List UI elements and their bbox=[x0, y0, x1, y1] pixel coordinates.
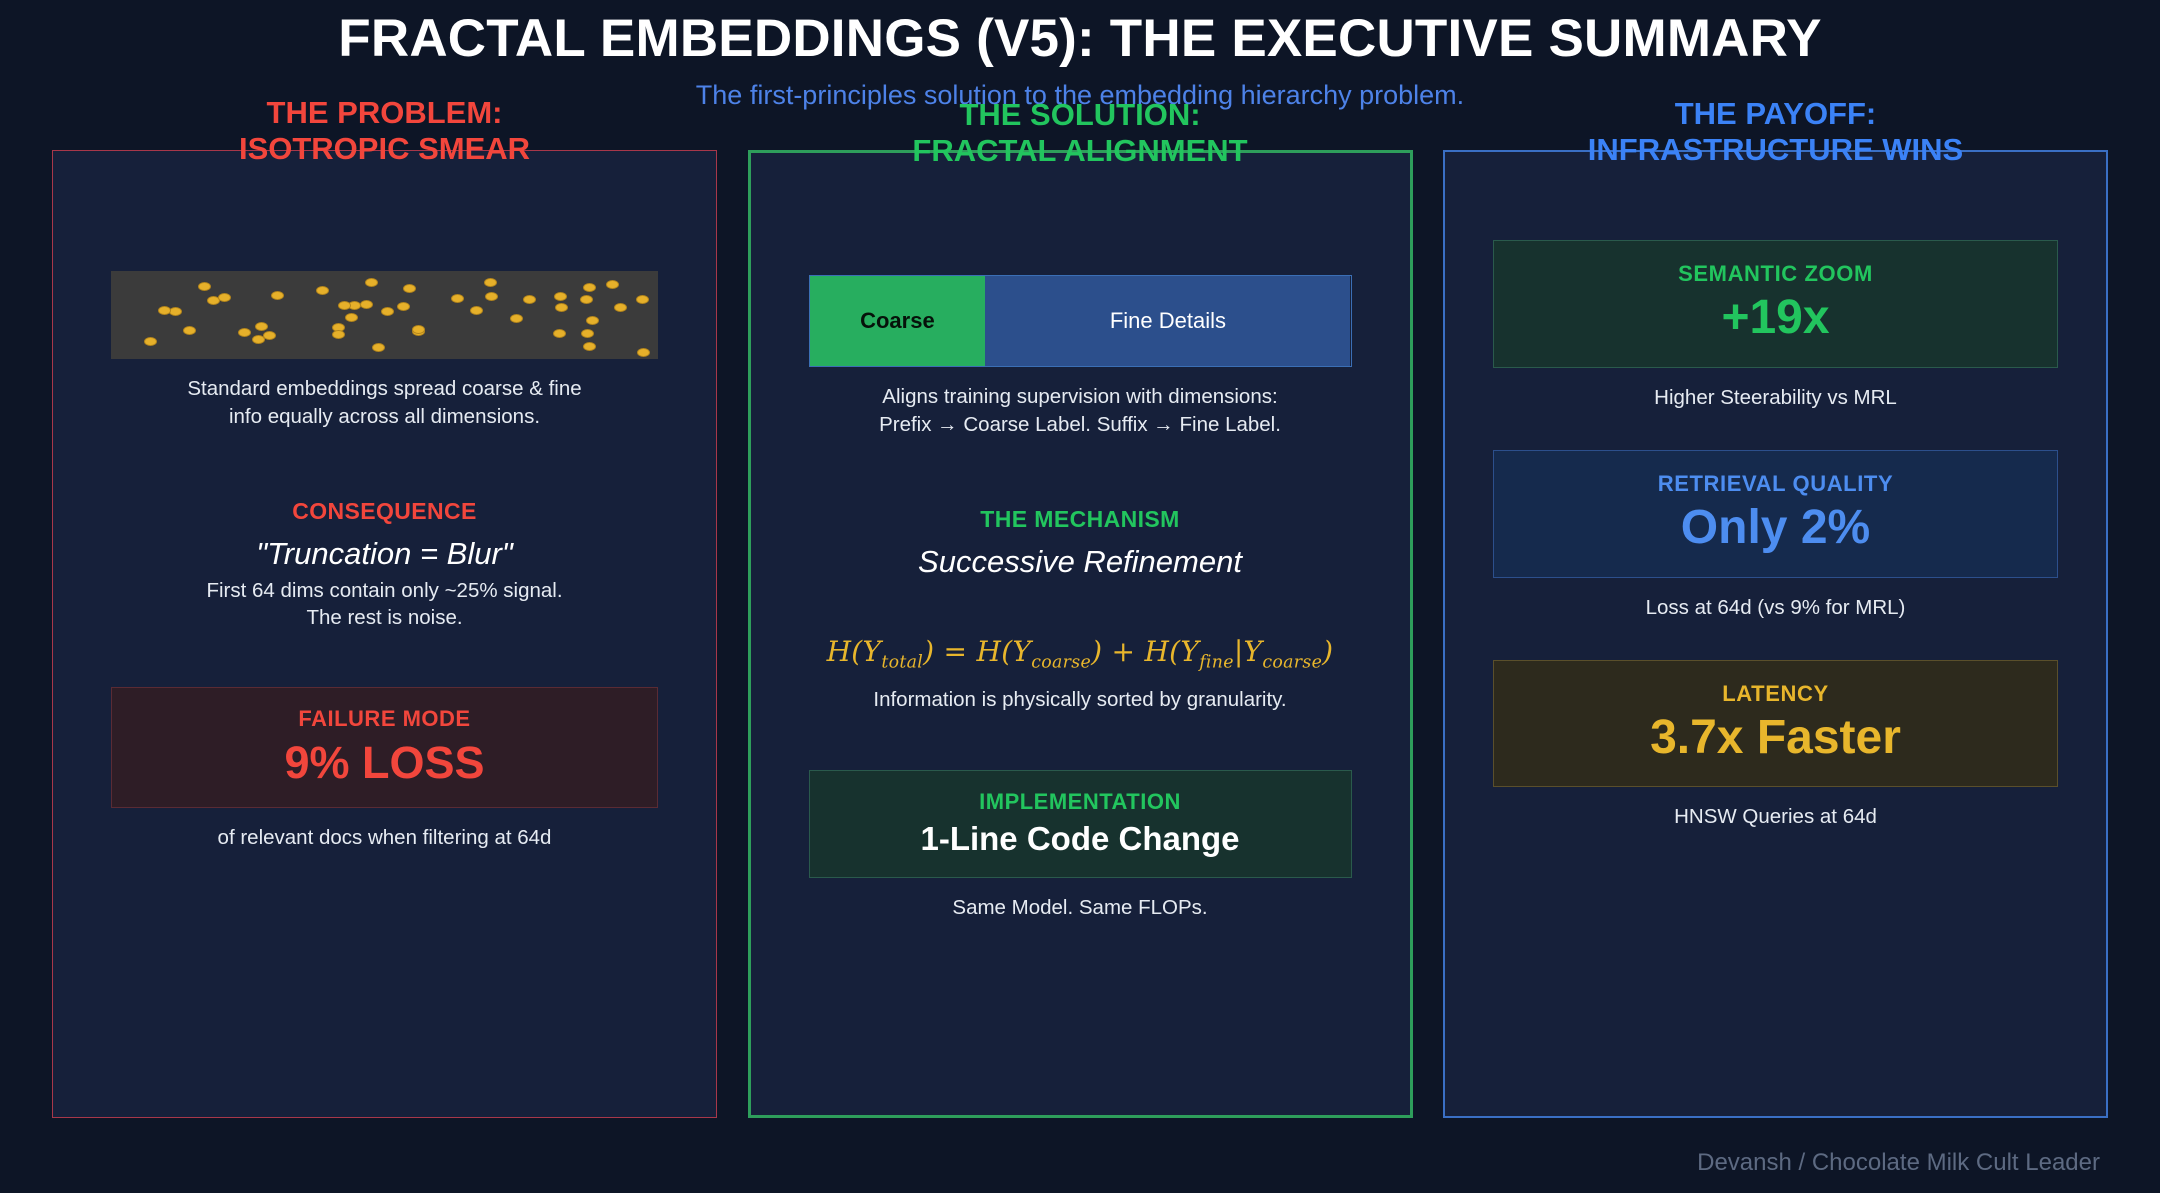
failure-mode-card: FAILURE MODE 9% LOSS bbox=[111, 687, 658, 809]
scatter-dot bbox=[555, 303, 568, 312]
metric-group-retrieval-quality: RETRIEVAL QUALITY Only 2% Loss at 64d (v… bbox=[1493, 450, 2058, 620]
scatter-dot bbox=[338, 301, 351, 310]
panel-problem-title: THE PROBLEM: ISOTROPIC SMEAR bbox=[53, 95, 716, 167]
metric-value-semantic-zoom: +19x bbox=[1494, 291, 2057, 345]
scatter-dot bbox=[403, 284, 416, 293]
implementation-footnote: Same Model. Same FLOPs. bbox=[809, 896, 1352, 920]
implementation-value: 1-Line Code Change bbox=[810, 821, 1351, 857]
panel-payoff-body: SEMANTIC ZOOM +19x Higher Steerability v… bbox=[1445, 152, 2106, 829]
scatter-dot bbox=[583, 283, 596, 292]
scatter-dot bbox=[238, 328, 251, 337]
metric-card-retrieval-quality: RETRIEVAL QUALITY Only 2% bbox=[1493, 450, 2058, 578]
metric-label-retrieval-quality: RETRIEVAL QUALITY bbox=[1494, 471, 2057, 497]
scatter-dot bbox=[345, 313, 358, 322]
scatter-dot bbox=[198, 282, 211, 291]
scatter-dot bbox=[636, 295, 649, 304]
consequence-label: CONSEQUENCE bbox=[111, 498, 658, 525]
scatter-dot bbox=[144, 337, 157, 346]
implementation-card: IMPLEMENTATION 1-Line Code Change bbox=[809, 770, 1352, 878]
mechanism-headline: Successive Refinement bbox=[809, 543, 1352, 580]
metric-label-latency: LATENCY bbox=[1494, 681, 2057, 707]
scatter-dot bbox=[183, 326, 196, 335]
scatter-dot bbox=[554, 292, 567, 301]
scatter-dot bbox=[470, 306, 483, 315]
scatter-dot bbox=[372, 343, 385, 352]
coarse-fine-bar: Coarse Fine Details bbox=[809, 275, 1352, 367]
panel-solution-title: THE SOLUTION: FRACTAL ALIGNMENT bbox=[751, 97, 1410, 169]
panel-payoff-title: THE PAYOFF: INFRASTRUCTURE WINS bbox=[1445, 96, 2106, 168]
metric-footnote-latency: HNSW Queries at 64d bbox=[1493, 805, 2058, 829]
scatter-dot bbox=[523, 295, 536, 304]
implementation-label: IMPLEMENTATION bbox=[810, 789, 1351, 815]
scatter-dot bbox=[586, 316, 599, 325]
scatter-dot bbox=[484, 278, 497, 287]
scatter-dot bbox=[255, 322, 268, 331]
scatter-dot bbox=[580, 295, 593, 304]
formula-mid2: ) + H(Y bbox=[1091, 635, 1199, 668]
formula-mid1: ) = H(Y bbox=[923, 635, 1031, 668]
mechanism-label: THE MECHANISM bbox=[809, 506, 1352, 533]
isotropic-scatter-band bbox=[111, 271, 658, 359]
metric-card-latency: LATENCY 3.7x Faster bbox=[1493, 660, 2058, 788]
scatter-dot bbox=[316, 286, 329, 295]
panel-solution-body: Coarse Fine Details Aligns training supe… bbox=[751, 153, 1410, 1115]
scatter-dot bbox=[365, 278, 378, 287]
scatter-dot bbox=[332, 330, 345, 339]
formula-h1: H(Y bbox=[827, 635, 882, 668]
scatter-dot bbox=[397, 302, 410, 311]
scatter-dot bbox=[218, 293, 231, 302]
scatter-dot bbox=[360, 300, 373, 309]
coarse-segment: Coarse bbox=[810, 276, 986, 366]
consequence-headline: "Truncation = Blur" bbox=[111, 535, 658, 572]
metric-group-latency: LATENCY 3.7x Faster HNSW Queries at 64d bbox=[1493, 660, 2058, 830]
scatter-dot bbox=[614, 303, 627, 312]
metric-footnote-retrieval-quality: Loss at 64d (vs 9% for MRL) bbox=[1493, 596, 2058, 620]
scatter-dot bbox=[553, 329, 566, 338]
formula-sub-coarse-2: coarse bbox=[1262, 652, 1322, 672]
panel-problem: THE PROBLEM: ISOTROPIC SMEAR Standard em… bbox=[52, 150, 717, 1118]
consequence-sub: First 64 dims contain only ~25% signal. … bbox=[111, 577, 658, 631]
metric-card-semantic-zoom: SEMANTIC ZOOM +19x bbox=[1493, 240, 2058, 368]
scatter-dot bbox=[451, 294, 464, 303]
scatter-dot bbox=[485, 292, 498, 301]
scatter-dot bbox=[381, 307, 394, 316]
metric-footnote-semantic-zoom: Higher Steerability vs MRL bbox=[1493, 386, 2058, 410]
metric-group-semantic-zoom: SEMANTIC ZOOM +19x Higher Steerability v… bbox=[1493, 240, 2058, 410]
formula-caption: Information is physically sorted by gran… bbox=[809, 686, 1352, 714]
metric-value-retrieval-quality: Only 2% bbox=[1494, 501, 2057, 555]
scatter-dot bbox=[583, 342, 596, 351]
metric-value-latency: 3.7x Faster bbox=[1494, 711, 2057, 765]
scatter-dot bbox=[581, 329, 594, 338]
footer-credit: Devansh / Chocolate Milk Cult Leader bbox=[1697, 1149, 2100, 1177]
failure-mode-label: FAILURE MODE bbox=[112, 706, 657, 732]
panel-payoff: THE PAYOFF: INFRASTRUCTURE WINS SEMANTIC… bbox=[1443, 150, 2108, 1118]
panel-solution: THE SOLUTION: FRACTAL ALIGNMENT Coarse F… bbox=[748, 150, 1413, 1118]
failure-mode-value: 9% LOSS bbox=[112, 738, 657, 788]
failure-mode-footnote: of relevant docs when filtering at 64d bbox=[111, 826, 658, 850]
problem-caption: Standard embeddings spread coarse & fine… bbox=[111, 375, 658, 430]
formula-end: ) bbox=[1322, 635, 1333, 668]
solution-caption: Aligns training supervision with dimensi… bbox=[809, 383, 1352, 438]
scatter-dot bbox=[510, 314, 523, 323]
formula-sub-coarse-1: coarse bbox=[1031, 652, 1091, 672]
scatter-dot bbox=[271, 291, 284, 300]
fine-details-segment: Fine Details bbox=[985, 276, 1350, 366]
entropy-formula: H(Ytotal) = H(Ycoarse) + H(Yfine|Ycoarse… bbox=[809, 635, 1352, 673]
formula-sub-total: total bbox=[881, 652, 923, 672]
page-title: FRACTAL EMBEDDINGS (V5): THE EXECUTIVE S… bbox=[0, 10, 2160, 67]
formula-sub-fine: fine bbox=[1199, 652, 1234, 672]
metric-label-semantic-zoom: SEMANTIC ZOOM bbox=[1494, 261, 2057, 287]
panel-problem-body: Standard embeddings spread coarse & fine… bbox=[53, 151, 716, 1117]
formula-conditional-bar: |Y bbox=[1234, 635, 1263, 668]
panel-row: THE PROBLEM: ISOTROPIC SMEAR Standard em… bbox=[0, 150, 2160, 1150]
scatter-dot bbox=[158, 306, 171, 315]
scatter-dot bbox=[637, 348, 650, 357]
scatter-dot bbox=[606, 280, 619, 289]
